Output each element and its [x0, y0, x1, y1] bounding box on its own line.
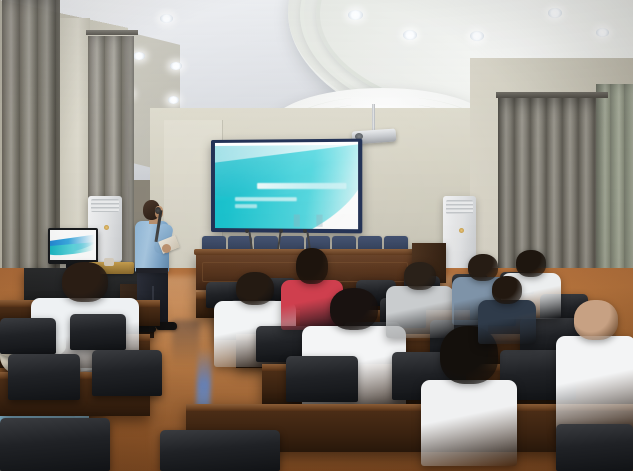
ac-indicator-led-left	[104, 225, 109, 230]
microphone-head-icon	[155, 207, 161, 214]
ceiling-downlight-9	[348, 10, 363, 20]
attendee-mid-grey-head	[404, 262, 436, 290]
attendee-row2-red-head	[296, 248, 328, 284]
attendee-glasses-head	[492, 276, 522, 304]
audience-chair-20	[70, 314, 126, 350]
ceiling-downlight-1	[160, 14, 173, 23]
microphone-capsule-1	[245, 229, 249, 233]
ceiling-downlight-13	[596, 28, 609, 37]
screen-glare	[215, 142, 358, 229]
ceiling-downlight-11	[470, 31, 484, 41]
attendee-center-white-head	[330, 288, 378, 330]
audience-chair-21	[8, 354, 80, 400]
control-desk-item	[104, 258, 114, 266]
ac-indicator-led-right	[459, 228, 464, 233]
microphone-capsule-3	[303, 229, 307, 233]
curtain-rail-left	[86, 30, 138, 35]
attendee-longhair-body	[421, 380, 517, 466]
attendee-mid-grey-body	[386, 286, 454, 338]
attendee-back-white-head	[516, 250, 546, 277]
attendee-mid-blue-head	[468, 254, 498, 281]
ac-grille-right	[446, 200, 472, 214]
conference-room-photo	[0, 0, 633, 471]
curtain-rail-right	[496, 92, 608, 98]
microphone-capsule-2	[279, 229, 283, 233]
presenter-hand	[162, 244, 171, 253]
projector-mount-pole	[372, 104, 375, 132]
audience-chair-22	[92, 350, 162, 396]
attendee-right-bald-body	[556, 336, 633, 436]
confidence-monitor	[48, 228, 98, 264]
confidence-monitor-screen	[50, 230, 96, 260]
attendee-row2-white-head	[236, 272, 274, 305]
projection-screen-surface	[215, 142, 358, 229]
audience-chair-25	[556, 424, 633, 471]
attendee-right-bald-head	[574, 300, 618, 340]
attendee-front-left-white-head	[62, 262, 108, 302]
attendee-glasses-body	[478, 300, 536, 344]
audience-chair-23	[0, 418, 110, 471]
presenter-belt	[136, 268, 168, 273]
audience-chair-24	[160, 430, 280, 471]
ceiling-downlight-2	[133, 52, 145, 60]
audience-chair-16	[286, 356, 358, 402]
ceiling-downlight-12	[548, 8, 562, 18]
ac-grille-left	[91, 199, 118, 212]
ceiling-downlight-3	[170, 62, 182, 70]
ceiling-downlight-10	[403, 30, 417, 40]
audience-chair-19	[0, 318, 56, 354]
ceiling-downlight-5	[168, 96, 179, 104]
projection-screen	[211, 139, 362, 234]
